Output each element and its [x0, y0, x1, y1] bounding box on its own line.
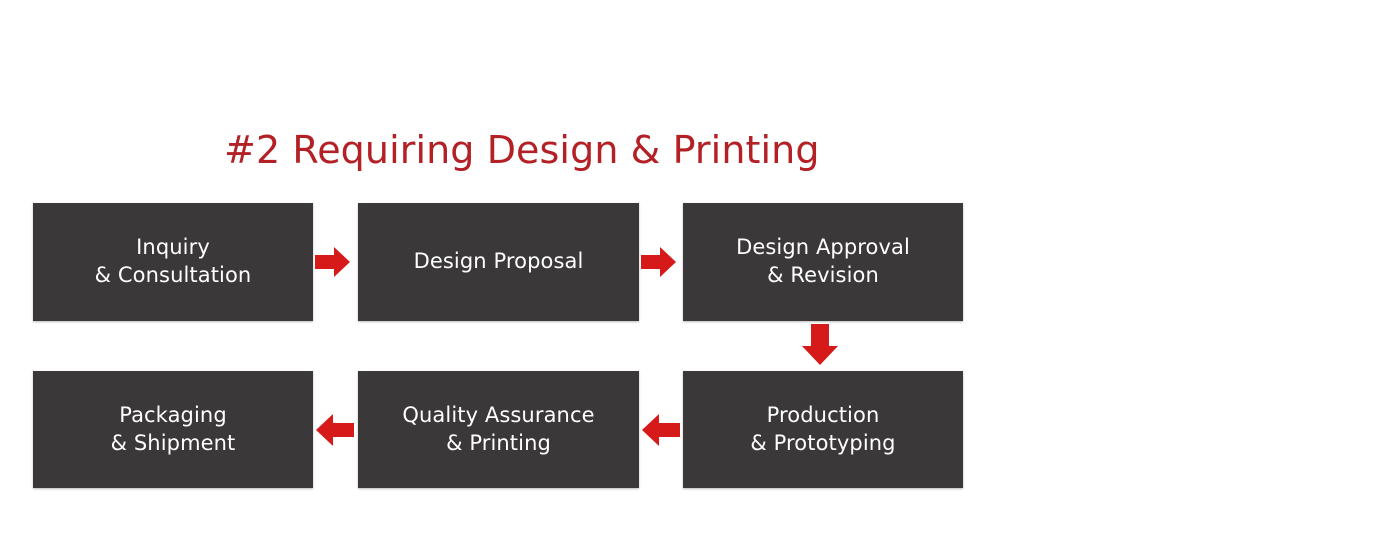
page-title: #2 Requiring Design & Printing	[224, 130, 820, 172]
arrow-down-icon	[801, 324, 839, 366]
flowchart-canvas: #2 Requiring Design & Printing Inquiry &…	[0, 0, 1376, 538]
flow-step-label: Design Proposal	[414, 248, 584, 276]
flow-step-label: Packaging & Shipment	[111, 402, 236, 457]
flow-step-label: Design Approval & Revision	[736, 234, 910, 289]
flow-step-label: Production & Prototyping	[750, 402, 895, 457]
arrow-left-icon	[641, 413, 681, 447]
arrow-right-icon	[641, 246, 677, 278]
flow-step-label: Inquiry & Consultation	[95, 234, 252, 289]
flow-step-inquiry[interactable]: Inquiry & Consultation	[33, 203, 313, 321]
arrow-left-icon	[315, 413, 355, 447]
arrow-right-icon	[315, 246, 351, 278]
flow-step-quality-assurance[interactable]: Quality Assurance & Printing	[358, 371, 639, 488]
flow-step-label: Quality Assurance & Printing	[402, 402, 594, 457]
flow-step-design-approval[interactable]: Design Approval & Revision	[683, 203, 963, 321]
flow-step-design-proposal[interactable]: Design Proposal	[358, 203, 639, 321]
flow-step-packaging[interactable]: Packaging & Shipment	[33, 371, 313, 488]
flow-step-production[interactable]: Production & Prototyping	[683, 371, 963, 488]
